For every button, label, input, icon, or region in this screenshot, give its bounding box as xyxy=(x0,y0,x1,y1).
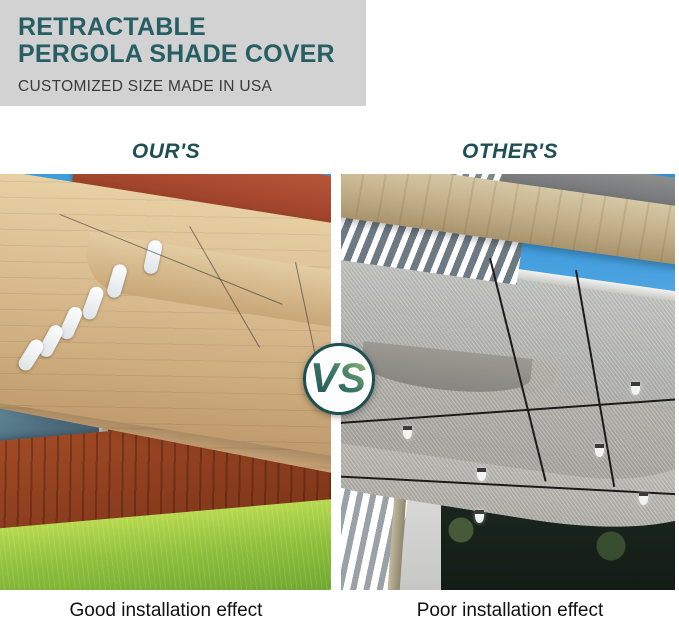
caption-good: Good installation effect xyxy=(0,600,332,622)
right-scene xyxy=(341,174,675,590)
light-bulb xyxy=(403,426,412,439)
vs-label: VS xyxy=(310,357,366,401)
left-scene xyxy=(0,174,331,590)
vs-badge: VS xyxy=(303,343,375,415)
banner-title: RETRACTABLE PERGOLA SHADE COVER xyxy=(18,14,366,68)
heading-ours: OUR'S xyxy=(0,140,332,164)
header-banner: RETRACTABLE PERGOLA SHADE COVER CUSTOMIZ… xyxy=(0,0,366,106)
product-comparison-image: RETRACTABLE PERGOLA SHADE COVER CUSTOMIZ… xyxy=(0,0,679,635)
caption-poor: Poor installation effect xyxy=(341,600,679,622)
light-bulb xyxy=(639,492,648,505)
banner-subtitle: CUSTOMIZED SIZE MADE IN USA xyxy=(18,78,366,96)
light-bulb xyxy=(475,510,484,523)
photo-good-installation xyxy=(0,174,331,590)
heading-others: OTHER'S xyxy=(341,140,679,164)
photo-poor-installation xyxy=(341,174,675,590)
vs-icon: VS xyxy=(310,357,368,401)
light-bulb xyxy=(631,382,640,395)
light-bulb xyxy=(595,444,604,457)
light-bulb xyxy=(477,468,486,481)
